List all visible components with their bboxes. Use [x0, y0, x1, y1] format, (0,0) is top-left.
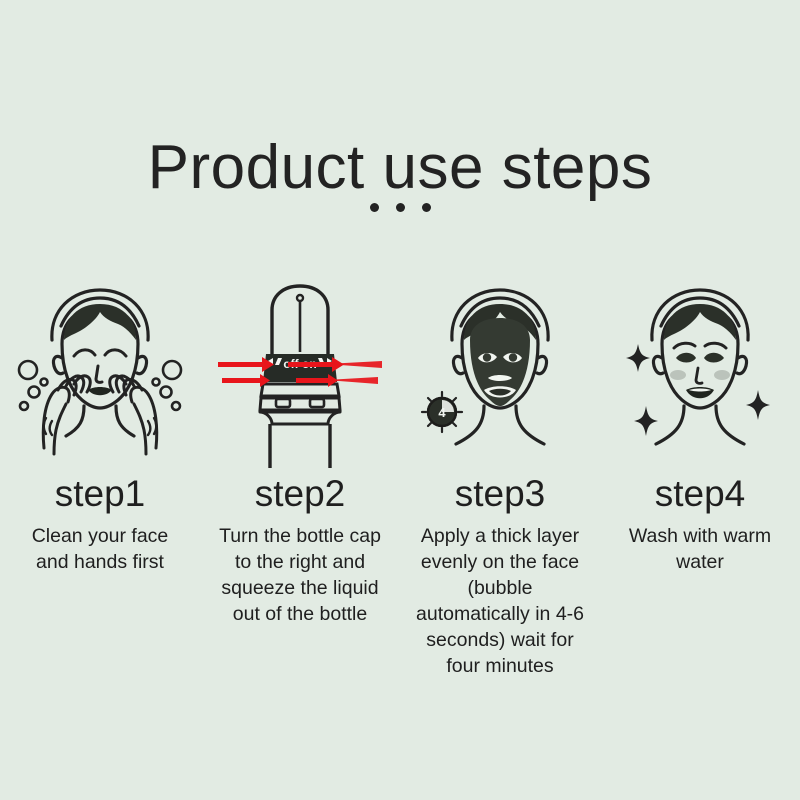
- step-item-1: step1 Clean your face and hands first: [0, 278, 200, 679]
- step-item-2: off on: [200, 278, 400, 679]
- step-description-1: Clean your face and hands first: [25, 523, 175, 575]
- timer-badge-icon: 4: [422, 392, 462, 432]
- woman-washing-face-icon: [0, 278, 200, 468]
- step-description-2: Turn the bottle cap to the right and squ…: [218, 523, 383, 627]
- step-label-4: step4: [655, 475, 746, 512]
- step-label-3: step3: [455, 475, 546, 512]
- clean-glowing-face-icon: [600, 278, 800, 468]
- step-label-1: step1: [55, 475, 146, 512]
- divider-dot-2: [396, 203, 405, 212]
- face-mask-applied-icon: 4: [400, 278, 600, 468]
- step-label-2: step2: [255, 475, 346, 512]
- page-title: Product use steps: [0, 135, 800, 202]
- divider-dot-3: [422, 203, 431, 212]
- divider-dot-1: [370, 203, 379, 212]
- step-description-4: Wash with warm water: [620, 523, 780, 575]
- divider-dots: [0, 203, 800, 212]
- product-use-steps-page: Product use steps: [0, 0, 800, 800]
- step-item-3: 4 step3 Apply a: [400, 278, 600, 679]
- step-item-4: step4 Wash with warm water: [600, 278, 800, 679]
- step-description-3: Apply a thick layer evenly on the face (…: [411, 523, 589, 679]
- steps-row: step1 Clean your face and hands first of…: [0, 278, 800, 679]
- bottle-cap-turn-icon: off on: [200, 278, 400, 468]
- timer-value: 4: [438, 405, 446, 420]
